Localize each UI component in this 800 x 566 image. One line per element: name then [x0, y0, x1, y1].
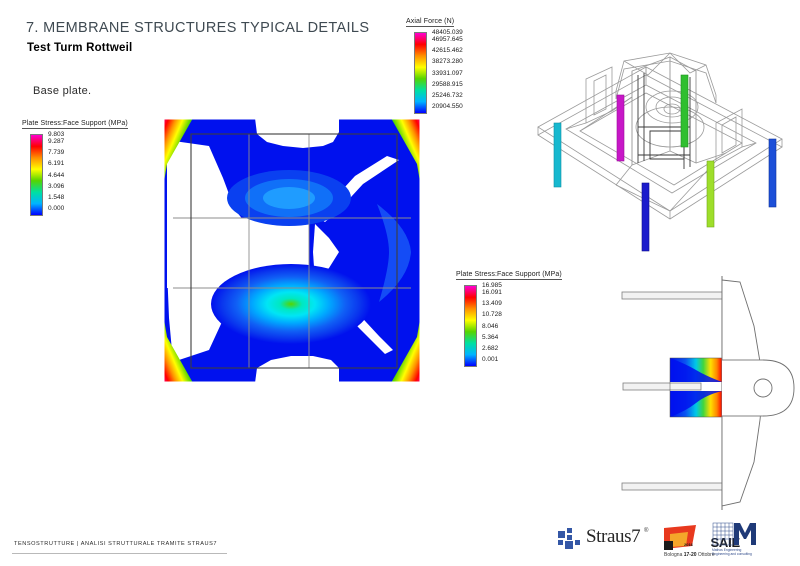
legend-title: Plate Stress:Face Support (MPa)	[22, 120, 128, 129]
straus7-mark-icon	[558, 531, 565, 538]
legend-colorbar	[30, 134, 43, 216]
legend-value: 13.409	[482, 301, 502, 308]
section-label: Base plate.	[33, 85, 91, 97]
legend-title: Axial Force (N)	[406, 18, 454, 27]
logo-straus7[interactable]: Straus7 ®	[556, 526, 652, 552]
legend-value: 38273.280	[432, 59, 463, 66]
structure-3d-wireframe-view[interactable]	[520, 35, 800, 265]
saie-subtitle: Bologna 17-20 Ottobre	[664, 552, 715, 558]
contour-svg	[163, 118, 421, 383]
legend-value: 33931.097	[432, 71, 463, 78]
mathos-mark-icon	[712, 522, 758, 550]
stress-lobe-lower	[211, 264, 371, 344]
legend-value: 0.000	[48, 206, 64, 213]
legend-axial-force: Axial Force (N) 48405.03946957.64542615.…	[406, 10, 516, 124]
column-bar-3	[681, 75, 688, 147]
column-bar-2	[617, 95, 624, 161]
column-bar-5	[707, 161, 714, 227]
legend-colorbar	[414, 32, 427, 114]
legend-value: 6.191	[48, 161, 64, 168]
saie-year: 2016	[684, 542, 693, 547]
legend-value: 25246.732	[432, 93, 463, 100]
flat-bar-bottom	[622, 483, 722, 490]
legend-value: 29588.915	[432, 82, 463, 89]
legend-colorbar	[464, 285, 477, 367]
page-subtitle: Test Turm Rottweil	[27, 42, 132, 54]
saie-mark-icon	[662, 524, 702, 554]
legend-value: 1.548	[48, 195, 64, 202]
slide-canvas: 7. MEMBRANE STRUCTURES TYPICAL DETAILS T…	[0, 0, 800, 566]
model3d-svg	[520, 35, 800, 265]
footer-divider	[12, 553, 227, 554]
detail-svg	[600, 270, 800, 515]
stress-lobe-upper-core	[263, 187, 315, 209]
gusset-connection-detail-view[interactable]	[600, 270, 800, 515]
platform-wireframe	[538, 67, 782, 219]
flat-bar-top	[622, 292, 722, 299]
column-bar-6	[769, 139, 776, 207]
legend-value: 8.046	[482, 324, 498, 331]
base-plate-stress-contour[interactable]	[163, 118, 421, 383]
legend-title: Plate Stress:Face Support (MPa)	[456, 271, 562, 280]
legend-plate-stress-detail: Plate Stress:Face Support (MPa) 16.98516…	[456, 263, 586, 377]
legend-value: 7.739	[48, 150, 64, 157]
flat-bar-middle	[623, 383, 701, 390]
legend-value: 4.644	[48, 173, 64, 180]
mathos-tagline: Mathos Engineering Engineering and consu…	[712, 549, 752, 557]
logo-mathos-engineering[interactable]: Mathos Engineering Engineering and consu…	[712, 522, 758, 558]
legend-value: 0.001	[482, 357, 498, 364]
column-axial-force-bars	[554, 75, 776, 251]
legend-value: 20904.550	[432, 104, 463, 111]
legend-value: 3.096	[48, 184, 64, 191]
legend-value: 10.728	[482, 312, 502, 319]
page-title: 7. MEMBRANE STRUCTURES TYPICAL DETAILS	[26, 20, 369, 36]
legend-value: 9.287	[48, 139, 64, 146]
legend-value: 42615.462	[432, 48, 463, 55]
legend-value: 16.091	[482, 290, 502, 297]
upper-frame-wireframe	[566, 53, 756, 211]
legend-value: 2.682	[482, 346, 498, 353]
footer-text: TENSOSTRUTTURE | ANALISI STRUTTURALE TRA…	[14, 541, 217, 547]
straus7-wordmark: Straus7	[586, 527, 640, 546]
tapered-end-plate	[722, 280, 794, 506]
legend-value: 46957.645	[432, 37, 463, 44]
legend-value: 5.364	[482, 335, 498, 342]
column-bar-1	[554, 123, 561, 187]
bolt-hole	[754, 379, 772, 397]
column-bar-4	[642, 183, 649, 251]
registered-trademark-icon: ®	[644, 528, 648, 534]
legend-plate-stress-main: Plate Stress:Face Support (MPa) 9.8039.2…	[22, 112, 152, 226]
